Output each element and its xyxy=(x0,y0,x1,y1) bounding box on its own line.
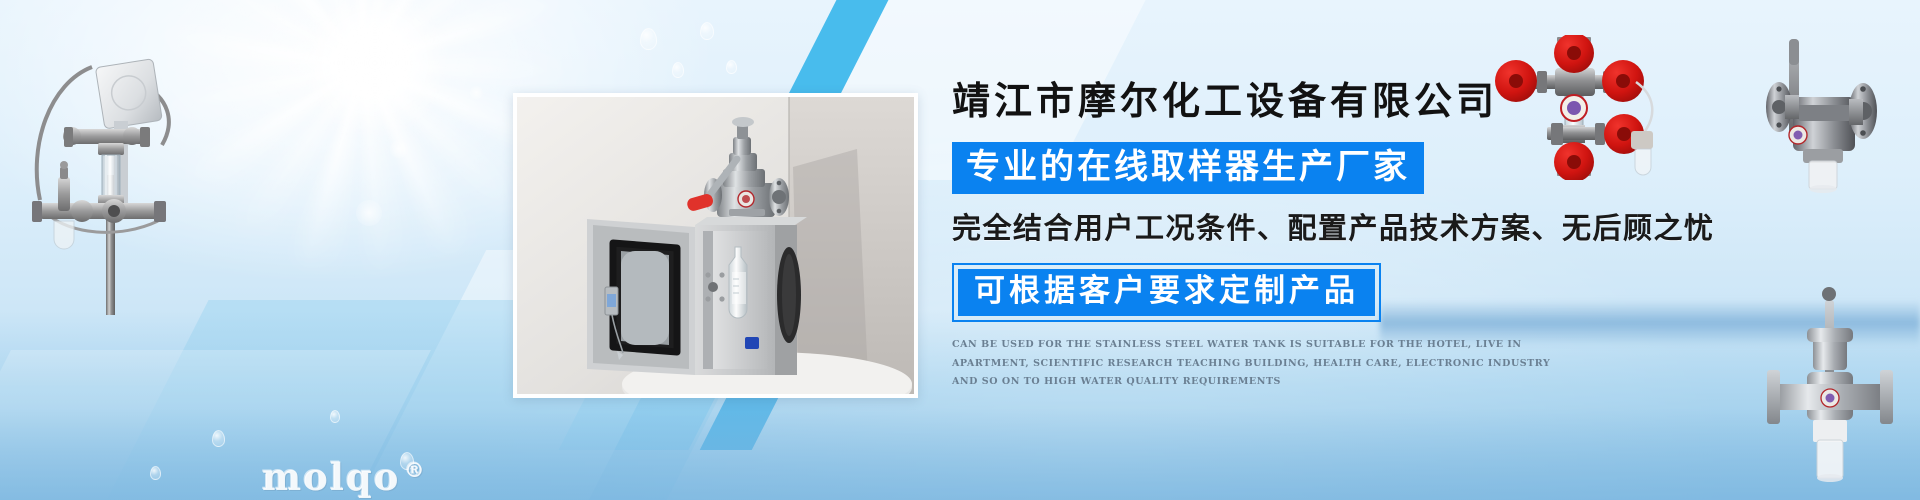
water-droplet-icon xyxy=(726,60,737,74)
banner-subline: 完全结合用户工况条件、配置产品技术方案、无后顾之忧 xyxy=(952,213,1712,246)
custom-product-cta-label: 可根据客户要求定制产品 xyxy=(958,269,1375,316)
registered-trademark-icon: ® xyxy=(404,458,426,482)
water-droplet-icon xyxy=(330,410,340,423)
water-droplet-icon xyxy=(672,62,684,78)
water-droplet-icon xyxy=(150,466,161,480)
water-droplet-icon xyxy=(212,430,225,447)
water-droplet-icon xyxy=(700,22,714,40)
lens-flare-icon xyxy=(356,200,382,226)
right-lever-valve-image xyxy=(1745,25,1910,200)
brand-watermark: molqo® xyxy=(262,455,426,499)
banner-copy: 靖江市摩尔化工设备有限公司 专业的在线取样器生产厂家 完全结合用户工况条件、配置… xyxy=(952,82,1712,392)
right-gate-valve-image xyxy=(1755,280,1905,490)
lens-flare-icon xyxy=(390,140,408,158)
lens-flare-icon xyxy=(470,86,483,99)
english-caption: CAN BE USED FOR THE STAINLESS STEEL WATE… xyxy=(952,336,1562,392)
custom-product-cta[interactable]: 可根据客户要求定制产品 xyxy=(952,263,1381,322)
company-title: 靖江市摩尔化工设备有限公司 xyxy=(952,82,1712,120)
promo-banner: 靖江市摩尔化工设备有限公司 专业的在线取样器生产厂家 完全结合用户工况条件、配置… xyxy=(0,0,1920,500)
left-product-image xyxy=(10,25,210,315)
headline-highlight: 专业的在线取样器生产厂家 xyxy=(952,142,1424,194)
watermark-text: molqo xyxy=(262,455,400,499)
water-droplet-icon xyxy=(640,28,657,50)
center-product-photo xyxy=(513,93,918,398)
